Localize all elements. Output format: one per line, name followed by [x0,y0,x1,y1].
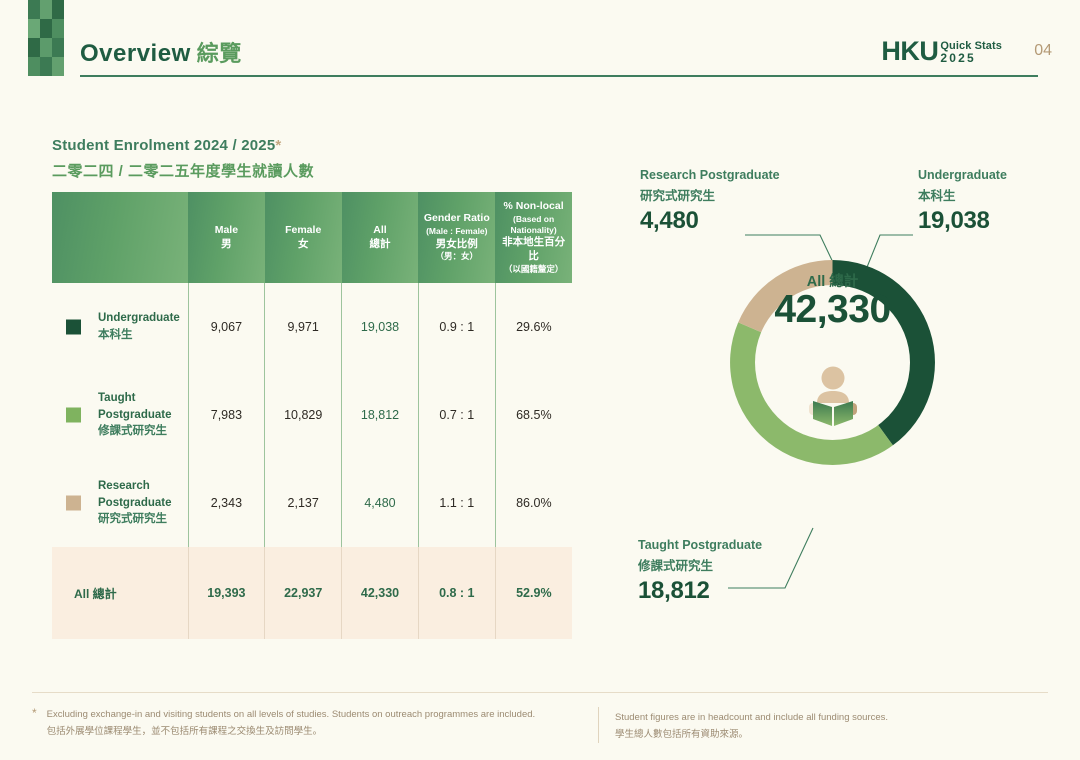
total-non-local: 52.9% [495,547,572,639]
table-body: Undergraduate 本科生 9,067 9,971 19,038 0.9… [52,283,572,639]
brand-name: HKU [881,38,938,65]
donut-ring: All 總計 42,330 [705,235,960,490]
footnote-marker: * [32,707,37,743]
icon-shoulders [817,391,849,403]
footnote-left: * Excluding exchange-in and visiting stu… [32,707,588,743]
column-header-male: Male 男 [188,192,265,283]
cell-non-local: 86.0% [495,459,572,547]
total-label: All 總計 [52,547,188,639]
row-category-taught-postgraduate: Taught Postgraduate 修課式研究生 [52,371,188,459]
footnote-right: Student figures are in headcount and inc… [598,707,888,743]
cell-all: 18,812 [342,371,419,459]
cell-female: 9,971 [265,283,342,371]
table-row: Taught Postgraduate 修課式研究生 7,983 10,829 … [52,371,572,459]
brand-logo: HKU Quick Stats 2025 [881,38,1002,65]
legend-swatch-research-postgraduate [66,496,81,511]
cell-male: 9,067 [188,283,265,371]
table-row: Undergraduate 本科生 9,067 9,971 19,038 0.9… [52,283,572,371]
row-category-undergraduate: Undergraduate 本科生 [52,283,188,371]
callout-taught-postgraduate: Taught Postgraduate 修課式研究生 18,812 [638,538,762,605]
brand-year: 2025 [940,52,1002,65]
callout-research-postgraduate: Research Postgraduate 研究式研究生 4,480 [640,168,780,235]
column-header-all: All 總計 [342,192,419,283]
table-header-row: Male 男 Female 女 All 總計 Gender Ratio (Mal… [52,192,572,283]
cell-non-local: 29.6% [495,283,572,371]
column-header-non-local: % Non-local (Based on Nationality) 非本地生百… [495,192,572,283]
total-male: 19,393 [188,547,265,639]
footnotes: * Excluding exchange-in and visiting stu… [32,707,1048,743]
icon-head [822,367,845,390]
cell-all: 4,480 [342,459,419,547]
icon-book-right-page [834,401,853,426]
icon-book-left-page [813,401,832,426]
total-gender-ratio: 0.8 : 1 [418,547,495,639]
table-row: Research Postgraduate 研究式研究生 2,343 2,137… [52,459,572,547]
page-title-cn: 綜覽 [197,41,242,66]
cell-gender-ratio: 0.9 : 1 [418,283,495,371]
column-header-category [52,192,188,283]
row-category-research-postgraduate: Research Postgraduate 研究式研究生 [52,459,188,547]
page-title-en: Overview [80,40,191,67]
legend-swatch-taught-postgraduate [66,408,81,423]
footnote-left-cn: 包括外展學位課程學生，並不包括所有課程之交換生及訪問學生。 [47,724,535,741]
student-enrolment-table: Male 男 Female 女 All 總計 Gender Ratio (Mal… [52,192,572,639]
cell-male: 2,343 [188,459,265,547]
footnote-right-en: Student figures are in headcount and inc… [615,712,888,723]
page-number: 04 [1034,42,1052,60]
page-title: Overview綜覽 [80,36,242,68]
page-header: Overview綜覽 HKU Quick Stats 2025 04 [0,0,1080,90]
column-header-gender-ratio: Gender Ratio (Male : Female) 男女比例 （男：女） [418,192,495,283]
enrolment-donut-chart: All 總計 42,330 Research Postgraduate 研究式研… [600,120,1060,640]
student-reading-icon [797,363,869,435]
table-title-cn: 二零二四 / 二零二五年度學生就讀人數 [52,160,314,181]
donut-center-value: 42,330 [705,288,960,332]
footnote-right-cn: 學生總人數包括所有資助來源。 [615,727,888,744]
table-head: Male 男 Female 女 All 總計 Gender Ratio (Mal… [52,192,572,283]
cell-gender-ratio: 1.1 : 1 [418,459,495,547]
cell-male: 7,983 [188,371,265,459]
legend-swatch-undergraduate [66,320,81,335]
cell-non-local: 68.5% [495,371,572,459]
cell-female: 10,829 [265,371,342,459]
footnote-left-en: Excluding exchange-in and visiting stude… [47,709,535,720]
callout-undergraduate: Undergraduate 本科生 19,038 [918,168,1007,235]
table-title-footnote-marker: * [275,137,281,154]
table-total-row: All 總計 19,393 22,937 42,330 0.8 : 1 52.9… [52,547,572,639]
cell-female: 2,137 [265,459,342,547]
decorative-checker-pattern [28,0,64,76]
total-female: 22,937 [265,547,342,639]
column-header-female: Female 女 [265,192,342,283]
header-divider [80,75,1038,77]
cell-all: 19,038 [342,283,419,371]
total-all: 42,330 [342,547,419,639]
cell-gender-ratio: 0.7 : 1 [418,371,495,459]
table-title: Student Enrolment 2024 / 2025* 二零二四 / 二零… [52,137,314,181]
footer-divider [32,692,1048,693]
table-title-en: Student Enrolment 2024 / 2025 [52,137,275,154]
